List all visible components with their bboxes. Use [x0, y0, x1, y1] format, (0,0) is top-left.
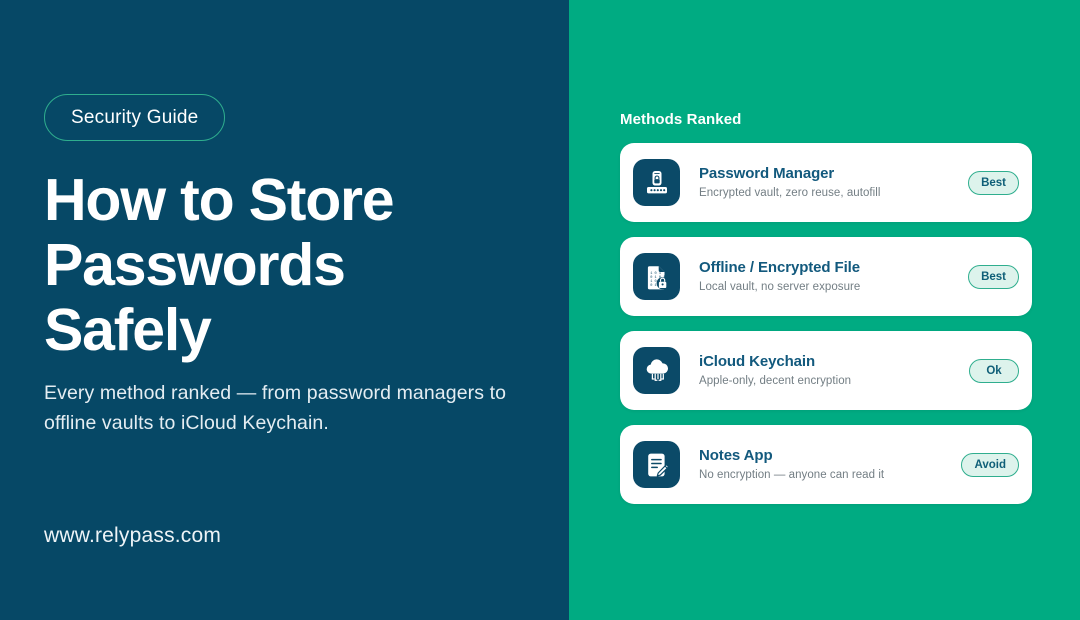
- badge-label: Security Guide: [71, 107, 198, 129]
- status-badge: Best: [968, 171, 1019, 195]
- cloud-keychain-icon: [633, 347, 680, 394]
- list-item-subtitle: No encryption — anyone can read it: [699, 467, 961, 483]
- status-badge: Best: [968, 265, 1019, 289]
- left-panel: Security Guide How to Store Passwords Sa…: [0, 0, 569, 620]
- status-badge: Ok: [969, 359, 1019, 383]
- list-item-subtitle: Encrypted vault, zero reuse, autofill: [699, 185, 968, 201]
- list-item-text: iCloud Keychain Apple-only, decent encry…: [680, 352, 969, 389]
- methods-ranked-label: Methods Ranked: [620, 111, 741, 128]
- page-subtitle: Every method ranked — from password mana…: [44, 378, 554, 438]
- password-vault-icon: [633, 159, 680, 206]
- list-item-subtitle: Apple-only, decent encryption: [699, 373, 969, 389]
- status-badge: Avoid: [961, 453, 1019, 477]
- list-item-text: Password Manager Encrypted vault, zero r…: [680, 164, 968, 201]
- list-item-text: Notes App No encryption — anyone can rea…: [680, 446, 961, 483]
- list-item-subtitle: Local vault, no server exposure: [699, 279, 968, 295]
- security-guide-badge: Security Guide: [44, 94, 225, 141]
- site-url: www.relypass.com: [44, 524, 221, 548]
- list-item-title: iCloud Keychain: [699, 352, 969, 371]
- methods-list: Password Manager Encrypted vault, zero r…: [620, 143, 1032, 519]
- list-item-text: Offline / Encrypted File Local vault, no…: [680, 258, 968, 295]
- list-item[interactable]: iCloud Keychain Apple-only, decent encry…: [620, 331, 1032, 410]
- list-item-title: Notes App: [699, 446, 961, 465]
- encrypted-file-icon: 1 0 1 0 1 0 1 1 0 1 1 0 1 0: [633, 253, 680, 300]
- list-item[interactable]: Password Manager Encrypted vault, zero r…: [620, 143, 1032, 222]
- notes-pencil-icon: [633, 441, 680, 488]
- poster-root: Security Guide How to Store Passwords Sa…: [0, 0, 1080, 620]
- right-panel: Methods Ranked: [569, 0, 1080, 620]
- page-title: How to Store Passwords Safely: [44, 168, 514, 363]
- list-item-title: Offline / Encrypted File: [699, 258, 968, 277]
- list-item[interactable]: 1 0 1 0 1 0 1 1 0 1 1 0 1 0 Offline / En…: [620, 237, 1032, 316]
- list-item-title: Password Manager: [699, 164, 968, 183]
- list-item[interactable]: Notes App No encryption — anyone can rea…: [620, 425, 1032, 504]
